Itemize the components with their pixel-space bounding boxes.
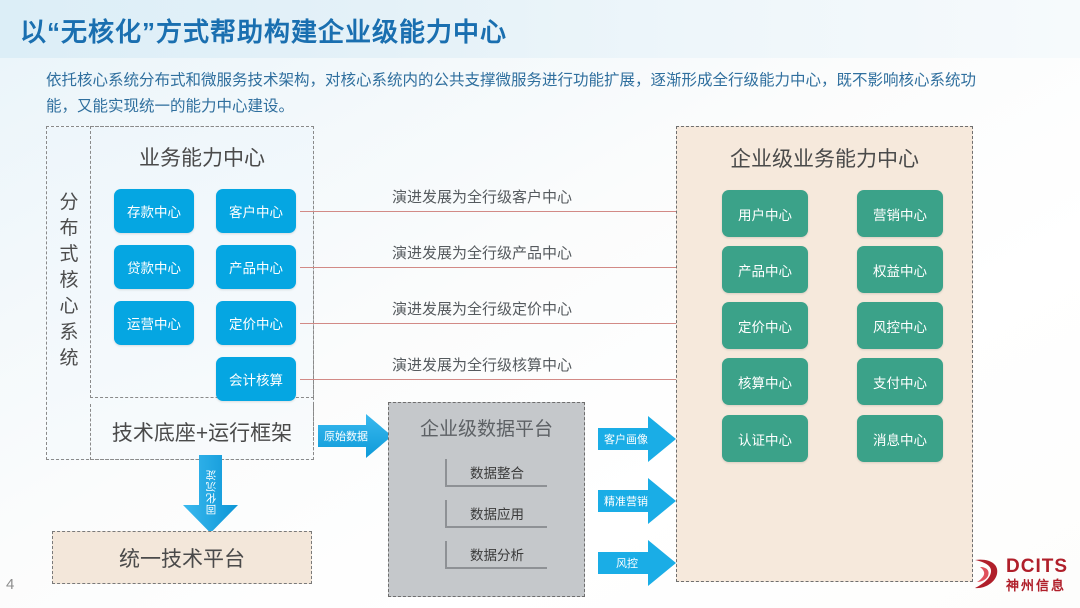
core-box-loan[interactable]: 贷款中心 (114, 245, 194, 289)
core-box-label: 贷款中心 (127, 257, 181, 277)
ent-box-user[interactable]: 用户中心 (722, 190, 808, 237)
business-capability-center-title: 业务能力中心 (90, 142, 314, 172)
core-box-label: 产品中心 (229, 257, 283, 277)
evolution-label-product: 演进发展为全行级产品中心 (392, 242, 572, 263)
solidify-precipitate-arrow-label: 固化沉淀 (203, 469, 218, 515)
ent-box-label: 定价中心 (738, 316, 792, 336)
evolution-arrow-line-customer (300, 211, 723, 212)
data-platform-item-application[interactable]: 数据应用 (445, 500, 547, 528)
dcits-logo-icon (971, 557, 1001, 591)
tech-base-label: 技术底座+运行框架 (112, 417, 292, 447)
page-subtitle: 依托核心系统分布式和微服务技术架构，对核心系统内的公共支撑微服务进行功能扩展，逐… (46, 68, 981, 120)
logo-cn-text: 神州信息 (1006, 579, 1068, 592)
evolution-label-accounting: 演进发展为全行级核算中心 (392, 354, 572, 375)
data-platform-title: 企业级数据平台 (388, 414, 585, 441)
core-system-label: 分布式核心系统 (52, 190, 86, 372)
core-box-operation[interactable]: 运营中心 (114, 301, 194, 345)
core-box-accounting[interactable]: 会计核算 (216, 357, 296, 401)
ent-box-payment[interactable]: 支付中心 (857, 358, 943, 405)
ent-box-auth[interactable]: 认证中心 (722, 415, 808, 462)
raw-data-arrow-label: 原始数据 (324, 428, 368, 444)
raw-data-arrow: 原始数据 (318, 414, 392, 458)
unified-tech-platform-box: 统一技术平台 (52, 531, 312, 584)
evolution-label-pricing: 演进发展为全行级定价中心 (392, 298, 572, 319)
ent-box-message[interactable]: 消息中心 (857, 415, 943, 462)
evolution-arrow-line-accounting (300, 379, 723, 380)
data-platform-item-analysis[interactable]: 数据分析 (445, 541, 547, 569)
enterprise-capability-title: 企业级业务能力中心 (676, 143, 973, 173)
core-box-label: 存款中心 (127, 201, 181, 221)
ent-box-benefits[interactable]: 权益中心 (857, 246, 943, 293)
customer-profile-arrow: 客户画像 (598, 416, 676, 462)
core-box-deposit[interactable]: 存款中心 (114, 189, 194, 233)
evolution-arrow-line-pricing (300, 323, 723, 324)
core-box-pricing[interactable]: 定价中心 (216, 301, 296, 345)
ent-box-label: 用户中心 (738, 204, 792, 224)
ent-box-label: 风控中心 (873, 316, 927, 336)
ent-box-marketing[interactable]: 营销中心 (857, 190, 943, 237)
core-box-label: 定价中心 (229, 313, 283, 333)
ent-box-label: 认证中心 (738, 429, 792, 449)
ent-box-label: 支付中心 (873, 372, 927, 392)
ent-box-product[interactable]: 产品中心 (722, 246, 808, 293)
core-box-label: 客户中心 (229, 201, 283, 221)
data-platform-item-label: 数据应用 (470, 503, 524, 523)
data-platform-item-label: 数据整合 (470, 462, 524, 482)
data-platform-item-label: 数据分析 (470, 544, 524, 564)
core-box-label: 运营中心 (127, 313, 181, 333)
slide-root: 以“无核化”方式帮助构建企业级能力中心 依托核心系统分布式和微服务技术架构，对核… (0, 0, 1080, 608)
core-box-label: 会计核算 (229, 369, 283, 389)
company-logo: DCITS 神州信息 (971, 552, 1068, 596)
ent-box-pricing[interactable]: 定价中心 (722, 302, 808, 349)
data-platform-item-integration[interactable]: 数据整合 (445, 459, 547, 487)
precision-marketing-arrow-label: 精准营销 (604, 493, 648, 509)
ent-box-label: 产品中心 (738, 260, 792, 280)
unified-tech-platform-label: 统一技术平台 (119, 543, 245, 573)
risk-control-arrow-label: 风控 (616, 555, 638, 571)
ent-box-label: 权益中心 (873, 260, 927, 280)
ent-box-riskcontrol[interactable]: 风控中心 (857, 302, 943, 349)
evolution-label-customer: 演进发展为全行级客户中心 (392, 186, 572, 207)
evolution-arrow-line-product (300, 267, 723, 268)
page-number: 4 (6, 576, 14, 593)
risk-control-arrow: 风控 (598, 540, 676, 586)
ent-box-label: 营销中心 (873, 204, 927, 224)
ent-box-label: 核算中心 (738, 372, 792, 392)
precision-marketing-arrow: 精准营销 (598, 478, 676, 524)
ent-box-accounting[interactable]: 核算中心 (722, 358, 808, 405)
customer-profile-arrow-label: 客户画像 (604, 431, 648, 447)
solidify-precipitate-arrow: 固化沉淀 (183, 455, 238, 533)
ent-box-label: 消息中心 (873, 429, 927, 449)
page-title: 以“无核化”方式帮助构建企业级能力中心 (20, 12, 507, 49)
tech-base-box: 技术底座+运行框架 (90, 404, 314, 460)
core-box-product[interactable]: 产品中心 (216, 245, 296, 289)
logo-en-text: DCITS (1006, 557, 1068, 576)
core-box-customer[interactable]: 客户中心 (216, 189, 296, 233)
